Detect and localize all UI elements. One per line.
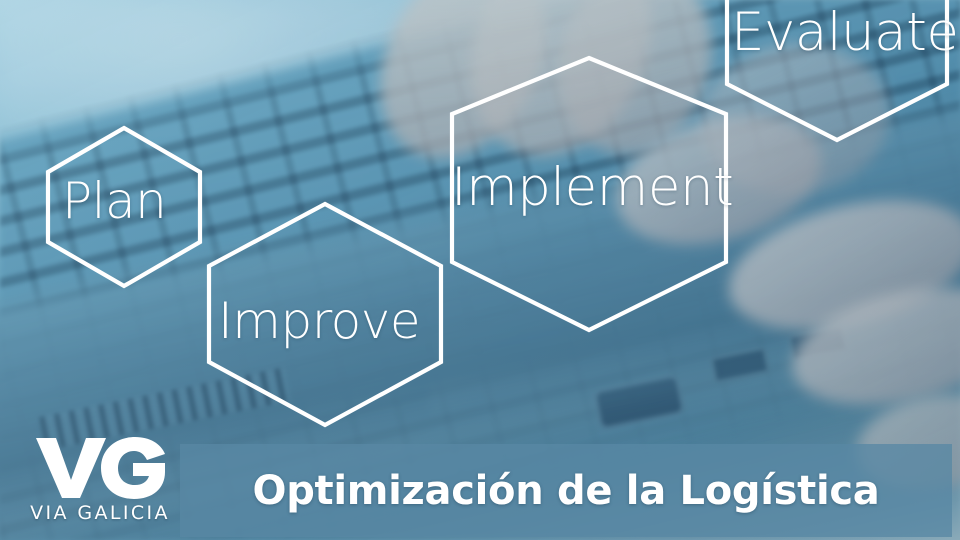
brand-logo[interactable]: VIA GALICIA [24, 436, 176, 524]
slide-canvas: Plan Improve Implement Evaluate Optimiza… [0, 0, 960, 540]
hexagon-label-improve: Improve [218, 292, 420, 350]
hexagon-label-implement: Implement [451, 157, 733, 218]
title-banner: Optimización de la Logística [180, 444, 952, 537]
hexagon-label-evaluate: Evaluate [731, 2, 959, 63]
logo-wordmark: VIA GALICIA [30, 502, 170, 524]
slide-title: Optimización de la Logística [252, 468, 879, 514]
vg-monogram-icon [34, 436, 166, 500]
hexagon-label-plan: Plan [62, 172, 166, 230]
